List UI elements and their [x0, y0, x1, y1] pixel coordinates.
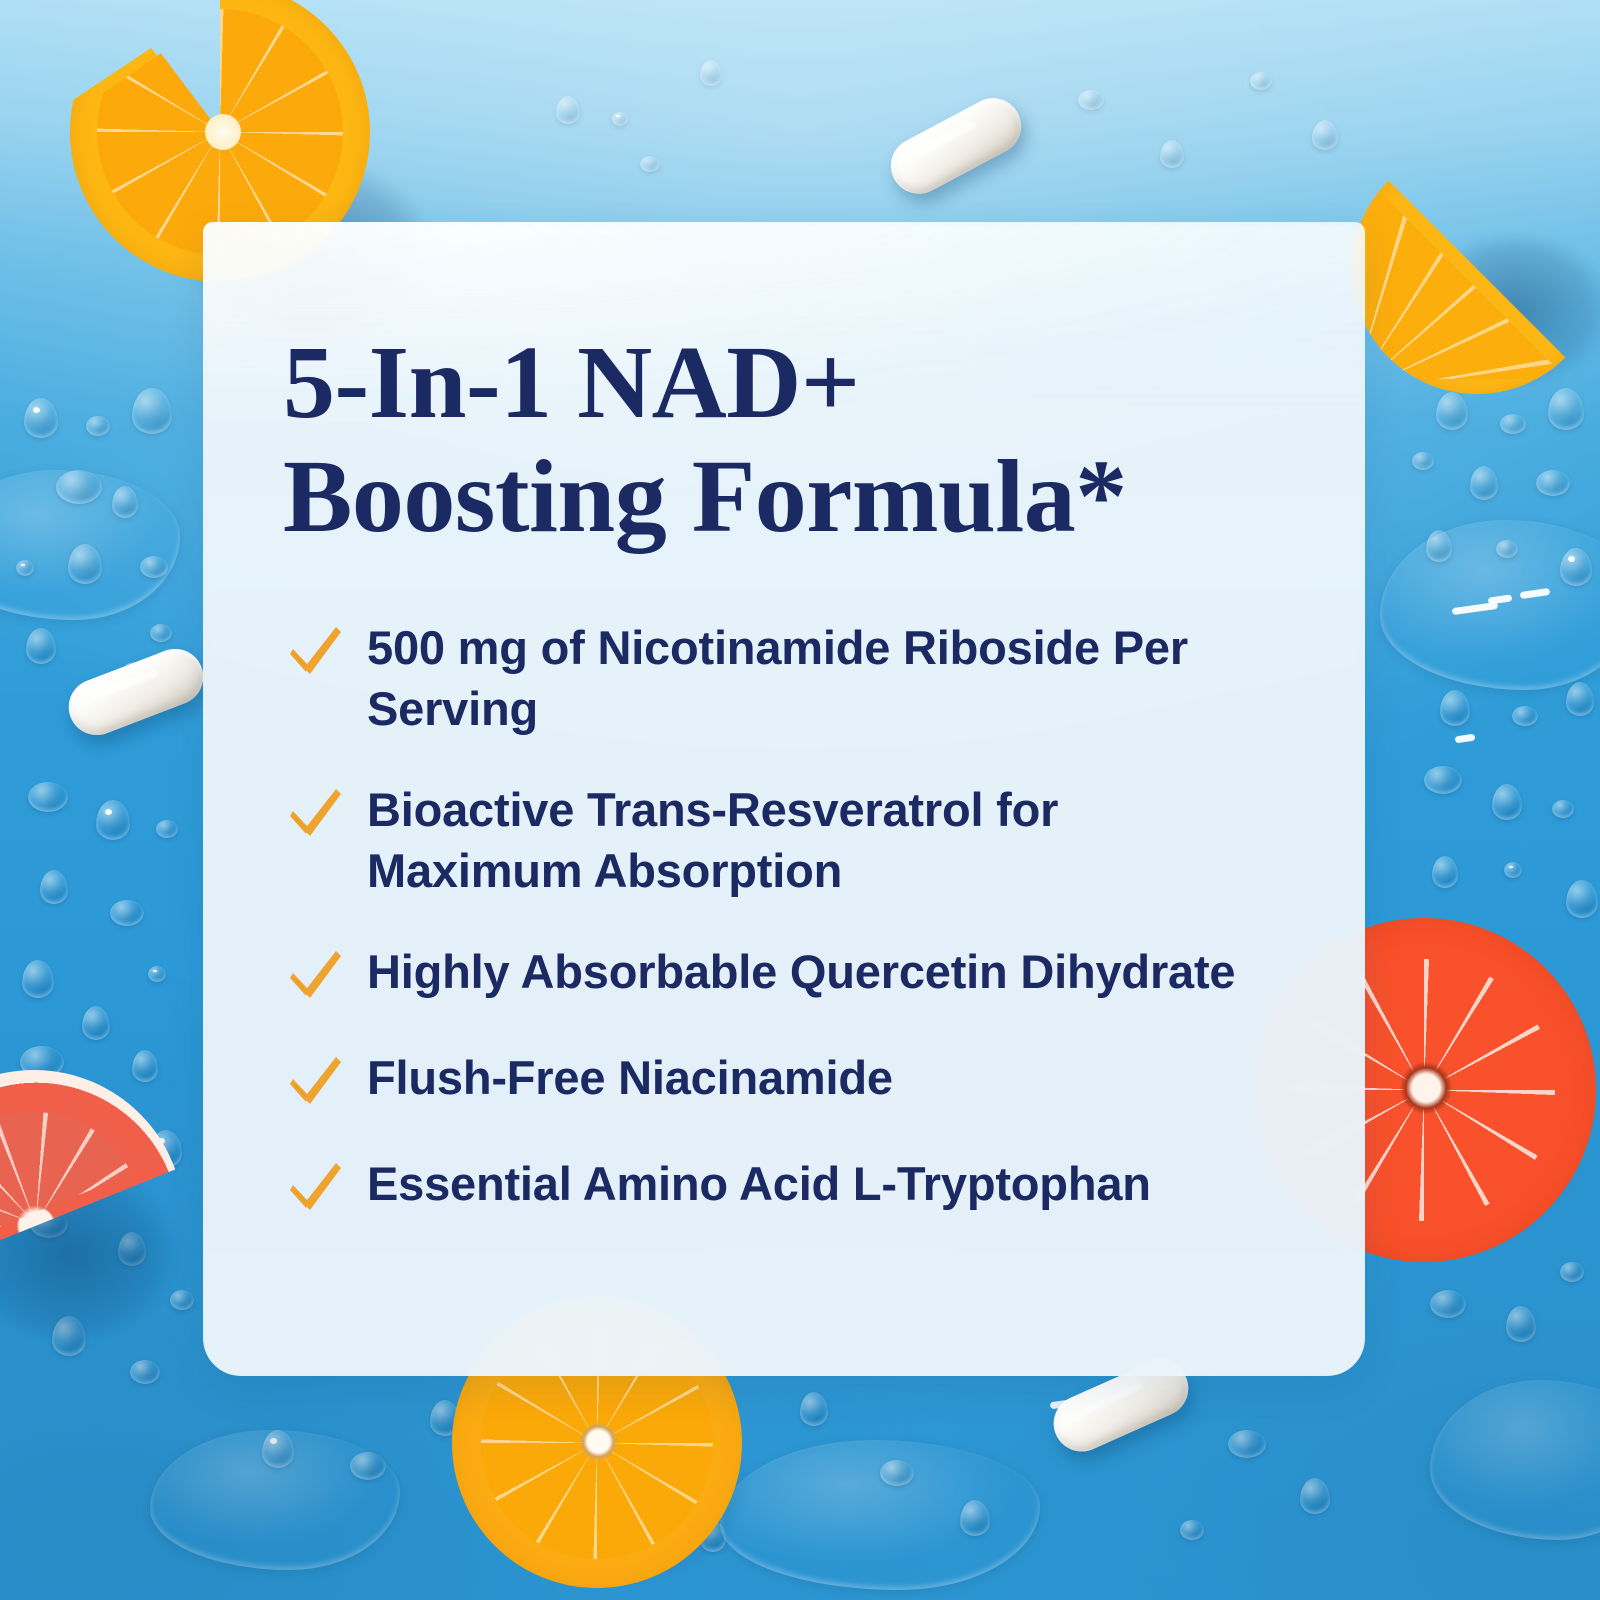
- list-item: 500 mg of Nicotinamide Riboside Per Serv…: [283, 617, 1293, 739]
- list-item: Bioactive Trans-Resveratrol for Maximum …: [283, 779, 1293, 901]
- capsule-top-icon: [881, 88, 1031, 203]
- page-title: 5-In-1 NAD+ Boosting Formula*: [283, 326, 1293, 555]
- list-item: Highly Absorbable Quercetin Dihydrate: [283, 941, 1293, 1007]
- check-icon: [283, 1157, 345, 1219]
- capsule-left-icon: [61, 641, 212, 743]
- feature-list: 500 mg of Nicotinamide Riboside Per Serv…: [283, 617, 1293, 1219]
- feature-label: Bioactive Trans-Resveratrol for Maximum …: [367, 779, 1267, 901]
- check-icon: [283, 945, 345, 1007]
- check-icon: [283, 621, 345, 683]
- feature-card: 5-In-1 NAD+ Boosting Formula* 500 mg of …: [203, 222, 1365, 1376]
- feature-label: Highly Absorbable Quercetin Dihydrate: [367, 941, 1235, 1002]
- check-icon: [283, 783, 345, 845]
- list-item: Essential Amino Acid L-Tryptophan: [283, 1153, 1293, 1219]
- check-icon: [283, 1051, 345, 1113]
- list-item: Flush-Free Niacinamide: [283, 1047, 1293, 1113]
- promo-graphic: 5-In-1 NAD+ Boosting Formula* 500 mg of …: [0, 0, 1600, 1600]
- orange-wedge-top-right-icon: [1352, 144, 1600, 394]
- feature-label: Essential Amino Acid L-Tryptophan: [367, 1153, 1151, 1214]
- feature-label: Flush-Free Niacinamide: [367, 1047, 893, 1108]
- feature-label: 500 mg of Nicotinamide Riboside Per Serv…: [367, 617, 1267, 739]
- grapefruit-wedge-bottom-left-icon: [0, 1025, 229, 1416]
